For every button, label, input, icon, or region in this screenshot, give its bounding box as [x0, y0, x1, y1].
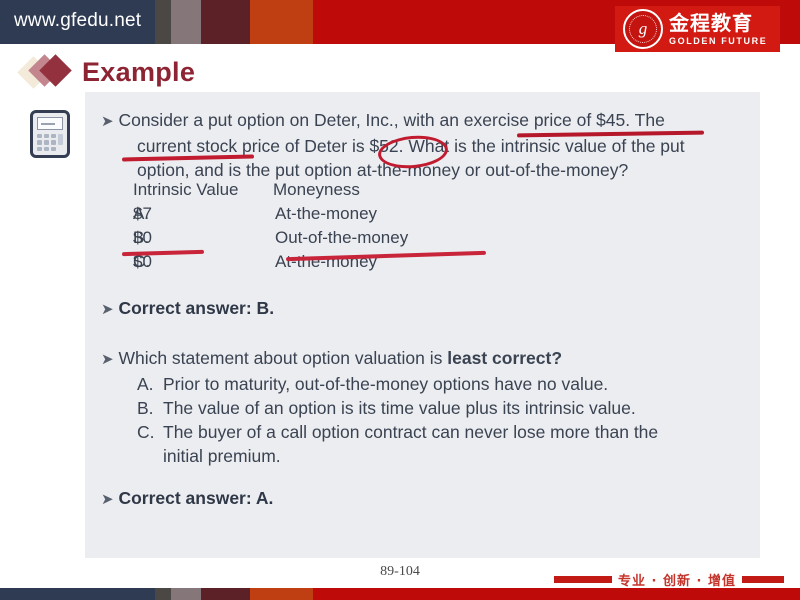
bottombar-segment-maroon	[201, 588, 250, 600]
page-title-label: Example	[82, 57, 195, 88]
footer-bar-right	[742, 576, 784, 583]
bottombar-segment-dark-gray	[155, 588, 171, 600]
calculator-key	[44, 140, 49, 144]
question-2-option-a-label: A.	[137, 372, 163, 396]
bottombar-segment-mauve	[171, 588, 201, 600]
column-header-moneyness: Moneyness	[273, 178, 513, 202]
question-2-option-b-text: The value of an option is its time value…	[163, 396, 636, 420]
question-2-option-c[interactable]: C. The buyer of a call option contract c…	[101, 420, 749, 444]
topbar-segment-orange	[250, 0, 313, 44]
question-2-option-c-cont-label	[137, 444, 163, 468]
column-header-intrinsic-value: Intrinsic Value	[101, 178, 273, 202]
logo-text-block: 金程教育 GOLDEN FUTURE	[669, 13, 767, 46]
option-c-label: C.	[101, 250, 133, 274]
option-a-value: $7	[133, 202, 275, 226]
calculator-key	[51, 140, 56, 144]
bottombar-segment-red	[313, 588, 800, 600]
bottombar-segment-navy	[0, 588, 155, 600]
bullet-arrow-icon: ➤	[101, 113, 114, 130]
topbar-segment-navy: www.gfedu.net	[0, 0, 155, 44]
option-row-c[interactable]: C. $0 At-the-money	[101, 250, 515, 274]
question-2-answer-label: Correct answer: A.	[118, 488, 273, 508]
question-1-text-1: Consider a put option on Deter, Inc., wi…	[118, 110, 664, 130]
calculator-key-enter	[58, 134, 63, 145]
logo-chinese-name: 金程教育	[669, 13, 767, 33]
calculator-key	[37, 134, 42, 138]
question-2-option-a-text: Prior to maturity, out-of-the-money opti…	[163, 372, 608, 396]
calculator-screen	[37, 117, 63, 130]
site-url: www.gfedu.net	[14, 10, 141, 32]
question-1-answer: ➤ Correct answer: B.	[101, 298, 274, 319]
bullet-arrow-icon: ➤	[101, 491, 114, 508]
question-2-prompt-emphasis: least correct?	[447, 348, 562, 368]
calculator-keypad	[37, 134, 63, 151]
calculator-icon	[30, 110, 70, 158]
footer-slogan-text: 专业 · 创新 · 增值	[618, 570, 736, 589]
option-row-a[interactable]: A. $7 At-the-money	[101, 202, 515, 226]
question-2-option-b-label: B.	[137, 396, 163, 420]
question-2-answer: ➤ Correct answer: A.	[101, 488, 273, 509]
topbar-segment-maroon	[201, 0, 250, 44]
calculator-key	[51, 134, 56, 138]
question-2-option-c-text: The buyer of a call option contract can …	[163, 420, 658, 444]
question-2-option-c-continued: initial premium.	[101, 444, 749, 468]
bottom-color-bar	[0, 588, 800, 600]
option-row-b[interactable]: B. $0 Out-of-the-money	[101, 226, 515, 250]
page-title: Example	[22, 52, 195, 92]
option-a-moneyness: At-the-money	[275, 202, 515, 226]
question-1-text-2: current stock price of Deter is $52. Wha…	[101, 134, 749, 158]
topbar-segment-dark-gray	[155, 0, 171, 44]
calculator-key	[37, 147, 42, 151]
question-2-option-a[interactable]: A. Prior to maturity, out-of-the-money o…	[101, 372, 749, 396]
calculator-key	[44, 134, 49, 138]
seal-icon: g	[623, 9, 663, 49]
bottombar-segment-orange	[250, 588, 313, 600]
calculator-key	[44, 147, 49, 151]
option-c-moneyness: At-the-money	[275, 250, 515, 274]
option-b-moneyness: Out-of-the-money	[275, 226, 515, 250]
option-a-label: A.	[101, 202, 133, 226]
calculator-key	[51, 147, 56, 151]
footer-bar-left	[554, 576, 612, 583]
question-1-options-table: Intrinsic Value Moneyness A. $7 At-the-m…	[101, 178, 515, 274]
brand-logo: g 金程教育 GOLDEN FUTURE	[615, 6, 780, 52]
option-b-label: B.	[101, 226, 133, 250]
option-b-value: $0	[133, 226, 275, 250]
options-header-row: Intrinsic Value Moneyness	[101, 178, 515, 202]
question-1-answer-label: Correct answer: B.	[118, 298, 274, 318]
question-2-prompt-prefix: Which statement about option valuation i…	[118, 348, 447, 368]
question-1-line-1: ➤ Consider a put option on Deter, Inc., …	[101, 108, 749, 134]
bullet-arrow-icon: ➤	[101, 301, 114, 318]
question-2-prompt: ➤ Which statement about option valuation…	[101, 346, 749, 372]
footer-slogan-block: 专业 · 创新 · 增值	[554, 570, 784, 589]
bullet-arrow-icon: ➤	[101, 351, 114, 368]
calculator-key	[37, 140, 42, 144]
logo-english-name: GOLDEN FUTURE	[669, 37, 767, 46]
option-c-value: $0	[133, 250, 275, 274]
topbar-segment-mauve	[171, 0, 201, 44]
question-2-option-b[interactable]: B. The value of an option is its time va…	[101, 396, 749, 420]
question-2-block: ➤ Which statement about option valuation…	[101, 346, 749, 468]
slide: www.gfedu.net g 金程教育 GOLDEN FUTURE Examp…	[0, 0, 800, 600]
question-2-option-c-cont-text: initial premium.	[163, 444, 281, 468]
seal-monogram: g	[625, 11, 661, 47]
content-panel: ➤ Consider a put option on Deter, Inc., …	[85, 92, 760, 558]
question-2-option-c-label: C.	[137, 420, 163, 444]
question-1-block: ➤ Consider a put option on Deter, Inc., …	[101, 108, 749, 182]
